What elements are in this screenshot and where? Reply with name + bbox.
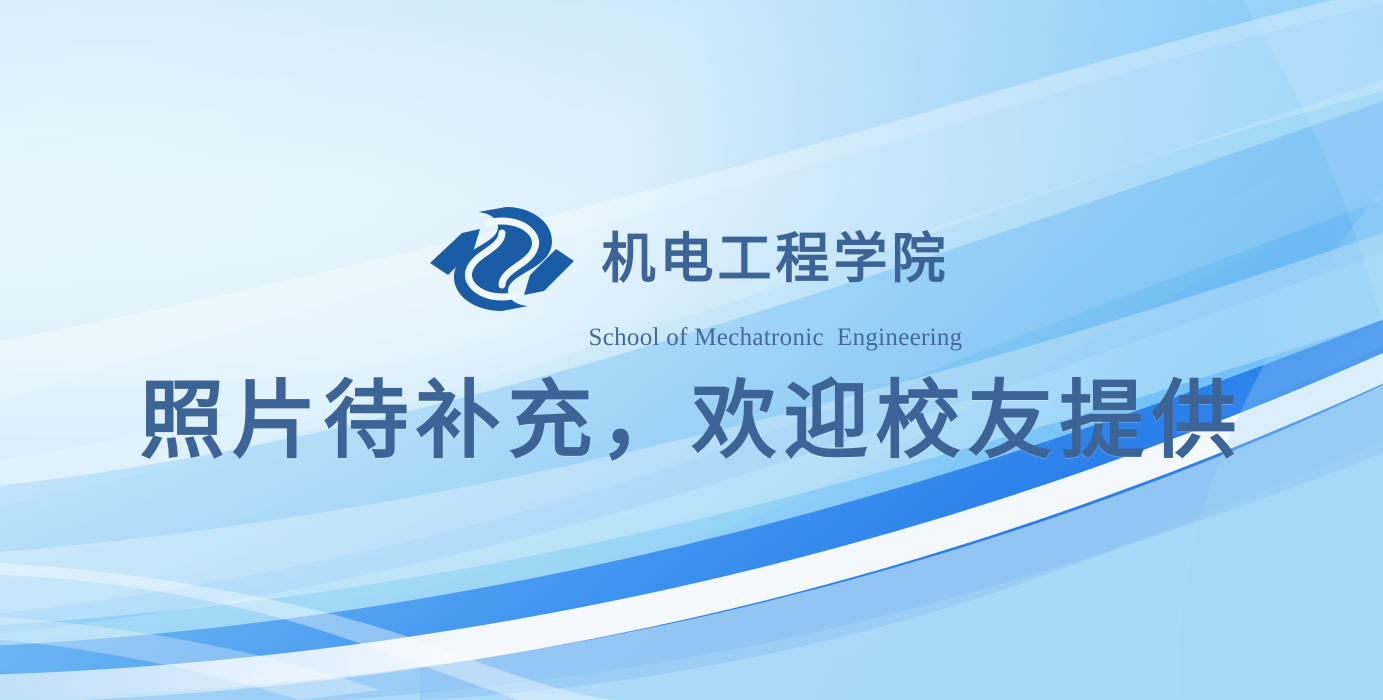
org-name-cn: 机电工程学院 — [602, 232, 956, 286]
brand-lockup-row: 机电工程学院 — [428, 205, 956, 313]
org-name-en: School of Mechatronic Engineering — [421, 325, 963, 350]
headline-text: 照片待补充，欢迎校友提供 — [0, 374, 1383, 469]
mechatronic-ribbon-logo-icon — [428, 205, 576, 313]
banner-content: 机电工程学院 School of Mechatronic Engineering… — [0, 0, 1383, 700]
banner-image: 机电工程学院 School of Mechatronic Engineering… — [0, 0, 1383, 700]
brand-lockup: 机电工程学院 School of Mechatronic Engineering — [0, 205, 1383, 350]
